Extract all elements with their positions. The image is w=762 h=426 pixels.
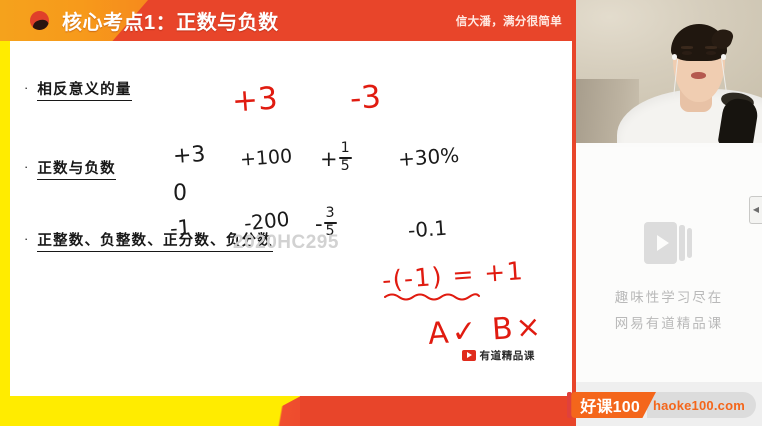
slide-footer-brand: 有道精品课	[462, 348, 536, 363]
yoyo-brand-circle-icon	[30, 11, 49, 30]
slide-footer-brand-label: 有道精品课	[480, 348, 536, 363]
annotation-positive-one-fifth: + 1 5	[320, 144, 353, 175]
play-film-icon	[643, 219, 695, 267]
site-watermark-badge[interactable]: 好课100 haoke100.com	[571, 392, 756, 418]
lesson-player-screen: 核心考点1：正数与负数 信大潘，满分很简单 · 相反意义的量 · 正数与负数 ·…	[0, 0, 762, 426]
promo-text: 趣味性学习尽在 网易有道精品课	[576, 285, 762, 337]
slide-panel: 核心考点1：正数与负数 信大潘，满分很简单 · 相反意义的量 · 正数与负数 ·…	[0, 0, 572, 426]
annotation-positive-30-percent: +30%	[397, 145, 459, 169]
play-badge-icon	[462, 350, 476, 361]
slide-header-bar: 核心考点1：正数与负数 信大潘，满分很简单	[0, 0, 572, 41]
bullet-dot-icon: ·	[24, 232, 28, 245]
video-person-eyebrow-left	[681, 46, 693, 48]
bullet-dot-icon: ·	[24, 81, 28, 94]
video-person-eyebrow-right	[705, 46, 717, 48]
annotation-red-positive-three: +3	[231, 83, 279, 117]
header-tagline: 信大潘，满分很简单	[456, 13, 562, 29]
annotation-positive-100: +100	[239, 147, 292, 170]
page-title: 核心考点1：正数与负数	[62, 6, 279, 35]
right-sidebar: 趣味性学习尽在 网易有道精品课 ◀	[572, 0, 762, 426]
teacher-webcam-video[interactable]	[576, 0, 762, 143]
watermark-text: 2020HC295	[233, 232, 339, 254]
annotation-positive-3: +3	[172, 144, 206, 168]
video-person-mouth	[691, 72, 706, 79]
site-badge-brand: 好课100	[571, 392, 656, 418]
fraction-numerator: 3	[326, 207, 335, 221]
bullet-dot-icon: ·	[24, 160, 28, 173]
slide-frame-left-accent	[0, 40, 10, 426]
list-item: · 正数与负数	[24, 157, 116, 180]
collapse-left-arrow-icon: ◀	[753, 206, 759, 214]
fraction-sign: +	[320, 149, 338, 170]
annotation-red-negative-three: -3	[349, 82, 382, 115]
list-item: · 相反意义的量	[24, 78, 132, 101]
fraction: 1 5	[339, 142, 352, 173]
annotation-zero: 0	[173, 183, 187, 205]
fraction-numerator: 1	[341, 142, 350, 156]
annotation-negative-1: -1	[169, 217, 191, 239]
list-item-label: 相反意义的量	[37, 78, 131, 101]
slide-frame-bottom-red	[300, 396, 572, 426]
annotation-red-answer-choice: A✓ B×	[427, 312, 545, 350]
annotation-negative-zero-point-one: -0.1	[407, 218, 447, 241]
annotation-squiggle-underline	[384, 291, 480, 302]
promo-line-2: 网易有道精品课	[576, 311, 762, 337]
list-item-label: 正数与负数	[37, 157, 116, 180]
slide-content: · 相反意义的量 · 正数与负数 · 正整数、负整数、正分数、负分数 +3 -3…	[10, 41, 572, 396]
annotation-red-equation: -(-1) = +1	[381, 258, 525, 293]
promo-placeholder-tile: 趣味性学习尽在 网易有道精品课	[576, 147, 762, 382]
promo-line-1: 趣味性学习尽在	[576, 285, 762, 311]
annotation-negative-200: -200	[243, 209, 290, 234]
site-badge-domain: haoke100.com	[647, 392, 756, 418]
collapse-sidebar-button[interactable]: ◀	[749, 196, 762, 224]
fraction-denominator: 5	[341, 160, 350, 174]
